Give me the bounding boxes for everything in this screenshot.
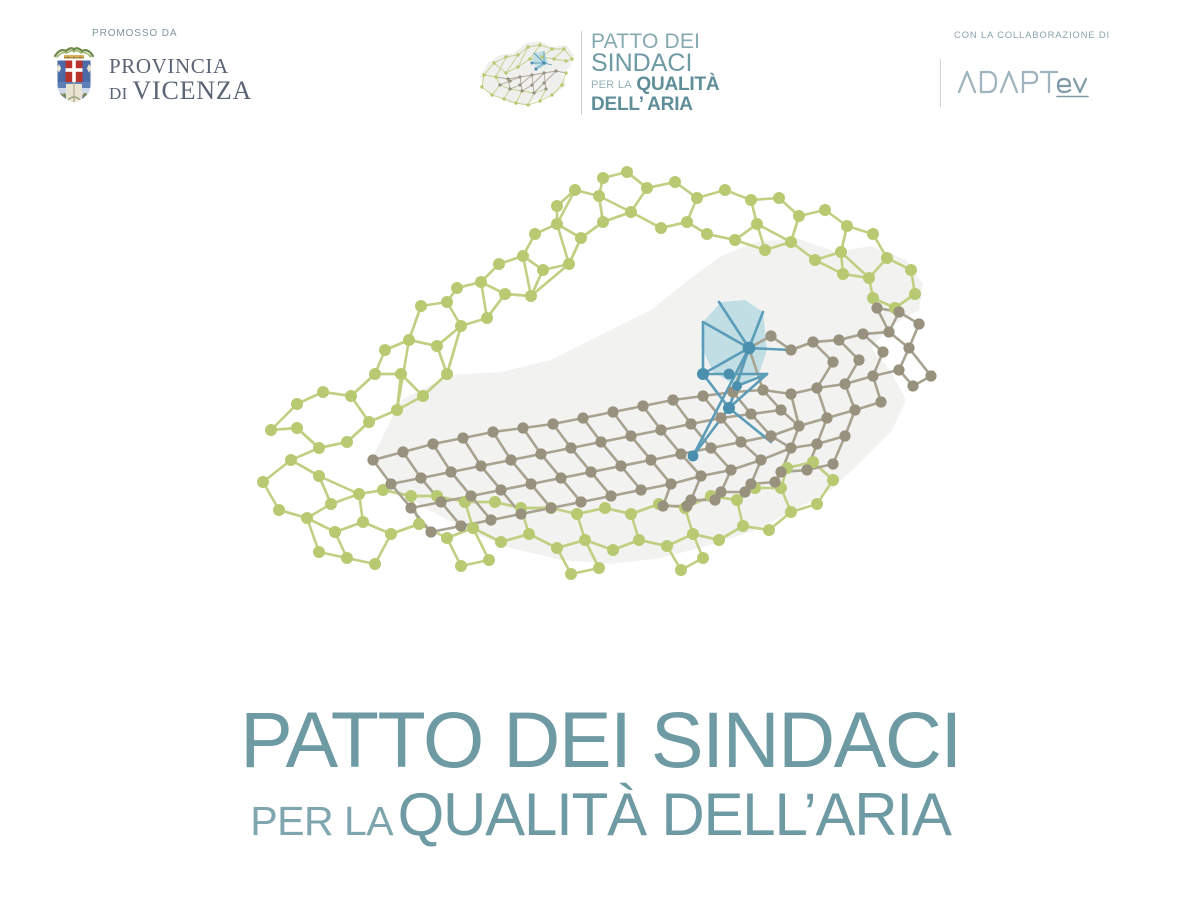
patto-dei-sindaci-logo: PATTO DEI SINDACI PER LA QUALITÀ DELL’ A… bbox=[474, 30, 719, 116]
promoted-by-block: PROMOSSO DA bbox=[48, 28, 308, 107]
crest-shield-icon bbox=[55, 58, 93, 105]
brand-line-2: SINDACI bbox=[591, 51, 719, 75]
adaptev-logo-icon bbox=[957, 66, 1091, 100]
brand-wordmark: PATTO DEI SINDACI PER LA QUALITÀ DELL’ A… bbox=[591, 32, 719, 114]
vicenza-network-map-mini-icon bbox=[474, 33, 578, 113]
promoted-by-kicker: PROMOSSO DA bbox=[92, 28, 308, 39]
subtitle-main: QUALITÀ DELL’ARIA bbox=[398, 781, 951, 848]
brand-per-la: PER LA bbox=[591, 79, 632, 91]
adaptev-logo bbox=[940, 59, 1170, 107]
provincia-line-1: PROVINCIA bbox=[109, 56, 252, 77]
collaboration-kicker: CON LA COLLABORAZIONE DI bbox=[954, 30, 1170, 41]
page-subtitle: PER LA QUALITÀ DELL’ARIA bbox=[0, 785, 1201, 845]
brand-qualita: QUALITÀ bbox=[636, 74, 719, 95]
provincia-line-2: DI VICENZA bbox=[109, 78, 252, 104]
provincia-wordmark: PROVINCIA DI VICENZA bbox=[109, 56, 252, 107]
collaboration-block: CON LA COLLABORAZIONE DI bbox=[940, 30, 1170, 107]
brand-divider bbox=[581, 31, 582, 115]
provincia-logo: PROVINCIA DI VICENZA bbox=[48, 45, 308, 107]
subtitle-prefix: PER LA bbox=[250, 798, 393, 844]
provincia-vicenza: VICENZA bbox=[132, 76, 252, 105]
slide-title-block: PATTO DEI SINDACI PER LA QUALITÀ DELL’AR… bbox=[0, 700, 1201, 845]
provincia-di: DI bbox=[109, 84, 128, 103]
map-stage bbox=[0, 160, 1201, 650]
header-logo-band: PROMOSSO DA bbox=[0, 0, 1201, 140]
brand-line-3: PER LA QUALITÀ bbox=[591, 76, 719, 94]
provincia-crest-icon bbox=[48, 45, 100, 107]
vicenza-province-network-map bbox=[251, 160, 951, 640]
page-title: PATTO DEI SINDACI bbox=[0, 700, 1201, 779]
adaptev-divider bbox=[940, 59, 941, 107]
brand-line-4: DELL’ ARIA bbox=[591, 96, 719, 114]
